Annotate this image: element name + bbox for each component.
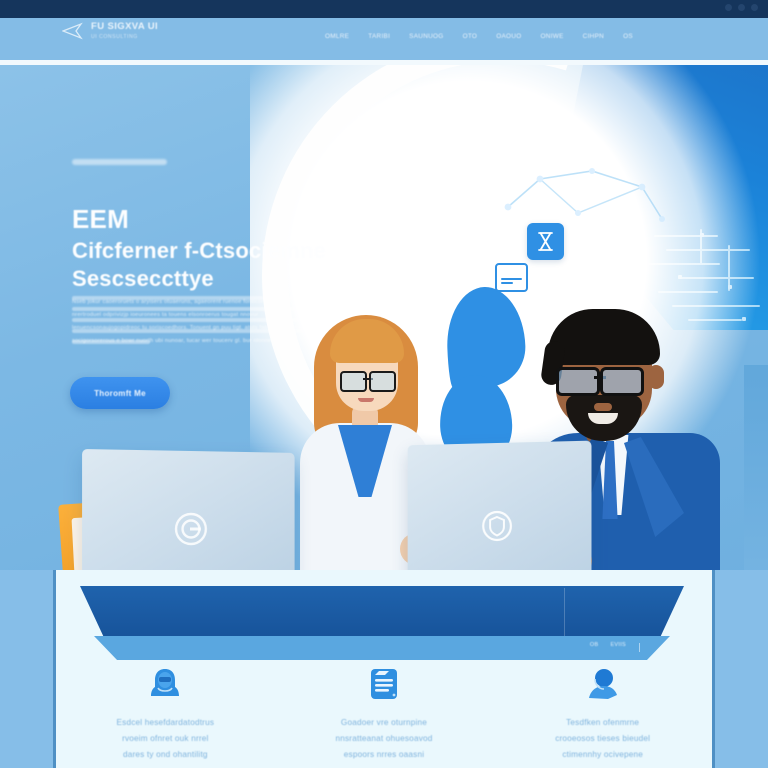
page-title: EEM Cifcferner f-Ctsociemne Sescseccttye — [72, 203, 372, 294]
feature-document-line-1: nnsratteanat ohuesoavod — [335, 731, 432, 746]
nav-item-0[interactable]: OMLRE — [325, 33, 349, 40]
page-gutter-left — [0, 570, 56, 768]
banner-meta: OB EVIIS — [590, 642, 626, 648]
page-gutter-right — [712, 570, 768, 768]
user-profile-icon — [583, 664, 623, 704]
feature-user-line-1: crooeosos tieses bieudel — [555, 731, 650, 746]
feature-support-line-2: dares ty ond ohantilitg — [123, 747, 208, 762]
window-minimize-icon[interactable] — [725, 4, 732, 11]
man-ear — [648, 365, 664, 389]
window-maximize-icon[interactable] — [738, 4, 745, 11]
hero-body-text: Nseb jokur caoeroruets o aryisers otuaer… — [72, 296, 320, 351]
nav-item-1[interactable]: TARIBI — [368, 33, 390, 40]
section-banner — [80, 586, 684, 638]
feature-user-line-0: Tesdfken ofenmrne — [566, 715, 639, 730]
feature-user-text: Tesdfken ofenmrne crooeosos tieses bieud… — [528, 715, 678, 762]
feature-document-line-0: Goadoer vre oturnpine — [341, 715, 427, 730]
laptop-left — [84, 451, 298, 570]
hero-paragraph: Nseb jokur caoeroruets o aryisers otuaer… — [72, 296, 322, 348]
support-agent-icon — [145, 664, 185, 704]
feature-support-line-0: Esdcel hesefdardatodtrus — [117, 715, 215, 730]
shield-badge-icon — [477, 506, 517, 546]
hourglass-icon — [527, 223, 564, 260]
feature-support-line-1: rvoeim ofnret ouk nrrel — [122, 731, 209, 746]
feature-list: Esdcel hesefdardatodtrus rvoeim ofnret o… — [56, 658, 712, 762]
man-upper-lip — [594, 403, 612, 411]
circle-g-badge-icon — [171, 509, 211, 549]
woman-glasses-icon — [340, 371, 396, 389]
hero-cta-button[interactable]: Thoromft Me — [70, 377, 170, 409]
feature-document-text: Goadoer vre oturnpine nnsratteanat ohues… — [309, 715, 459, 762]
nav-item-7[interactable]: OS — [623, 33, 633, 40]
primary-navigation[interactable]: OMLRE TARIBI SAUNUOG OTO OAOUO ONIWE CIH… — [325, 33, 633, 40]
man-glasses-icon — [556, 367, 644, 391]
nav-item-2[interactable]: SAUNUOG — [409, 33, 443, 40]
banner-caret — [639, 643, 640, 652]
monitor-icon — [495, 263, 528, 292]
feature-document-line-2: espoors nrres oaasni — [344, 747, 424, 762]
laptop-left-lid — [82, 449, 295, 570]
network-constellation-icon — [500, 165, 670, 245]
features-card: OB EVIIS Esdcel hesefdardatodtrus rvoeim… — [56, 570, 712, 768]
window-controls[interactable] — [725, 4, 758, 11]
feature-support-text: Esdcel hesefdardatodtrus rvoeim ofnret o… — [90, 715, 240, 762]
banner-meta-0: OB — [590, 642, 599, 648]
feature-card-user[interactable]: Tesdfken ofenmrne crooeosos tieses bieud… — [493, 658, 712, 762]
nav-item-3[interactable]: OTO — [463, 33, 478, 40]
feature-card-document[interactable]: Goadoer vre oturnpine nnsratteanat ohues… — [275, 658, 494, 762]
brand-logo[interactable]: FU SIGXVA UI UI CONSULTING — [62, 22, 158, 40]
hero-title-line-1: EEM — [72, 203, 372, 237]
hero-title-line-2: Cifcferner f-Ctsociemne — [72, 237, 372, 266]
banner-meta-1: EVIIS — [610, 642, 626, 648]
brand-tagline: UI CONSULTING — [91, 35, 158, 40]
nav-item-5[interactable]: ONIWE — [541, 33, 564, 40]
brand-name: FU SIGXVA UI — [91, 22, 158, 32]
laptop-right-lid — [408, 441, 592, 570]
hero-kicker — [72, 159, 167, 165]
document-icon — [364, 664, 404, 704]
feature-user-line-2: ctimennhy ocivepene — [562, 747, 643, 762]
page-right-edge — [744, 365, 768, 570]
hero-section: EEM Cifcferner f-Ctsociemne Sescseccttye… — [0, 65, 768, 570]
triangle-arrow-logo-icon — [62, 22, 84, 40]
laptop-right — [404, 443, 590, 570]
window-close-icon[interactable] — [751, 4, 758, 11]
banner-divider — [564, 588, 565, 636]
feature-card-support[interactable]: Esdcel hesefdardatodtrus rvoeim ofnret o… — [56, 658, 275, 762]
nav-item-4[interactable]: OAOUO — [496, 33, 521, 40]
window-titlebar — [0, 0, 768, 18]
browser-screenshot: FU SIGXVA UI UI CONSULTING OMLRE TARIBI … — [0, 0, 768, 768]
nav-item-6[interactable]: CIHPN — [583, 33, 604, 40]
section-banner-strip — [94, 636, 670, 660]
hero-title-line-3: Sescseccttye — [72, 265, 372, 294]
hero-cta-label: Thoromft Me — [94, 389, 146, 398]
woman-mouth — [358, 398, 374, 402]
